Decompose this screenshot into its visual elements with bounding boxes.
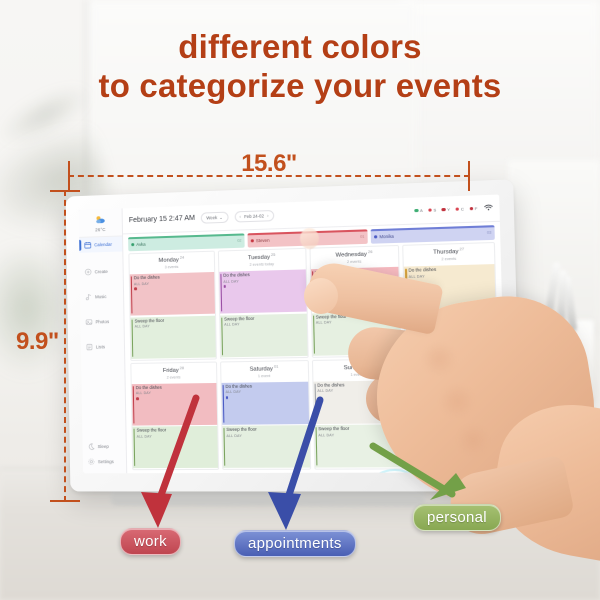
legend-item[interactable]: A [414,208,422,213]
weather-temperature: 26°C [95,227,106,232]
day-name: Tuesday [248,255,270,262]
sidebar-item-label: Lists [96,344,105,349]
legend-dot [442,208,446,212]
event-accent-bar [133,386,135,423]
chip-name: Steven [256,237,270,243]
day-event-count: 2 events [132,374,216,379]
event-title: Sweep the floor [226,427,306,433]
width-dimension-annotation: 15.6" [54,150,484,194]
category-pill-appointments[interactable]: appointments [234,530,356,557]
day-events: Do the dishes ALL DAY Sweep the floor AL… [221,380,309,469]
chip-count: 02 [237,239,241,243]
day-column-monday[interactable]: Monday24 3 events Do the dishes ALL DAY [128,251,216,361]
event-accent-bar [220,274,222,312]
sidebar-item-label: Settings [98,459,114,464]
width-dimension-cap-right [468,161,470,191]
fingernail [300,228,319,249]
day-event-count: 1 event [221,373,307,378]
legend-label: A [420,208,423,213]
sidebar-item-label: Calendar [94,242,112,248]
event-member-dot [136,397,139,400]
day-header: Friday28 2 events [131,362,216,383]
event-time: ALL DAY [226,433,306,438]
sidebar-item-label: Sleep [98,444,109,449]
headline-line-2: to categorize your events [0,67,600,106]
sidebar-item-label: Music [95,294,107,299]
legend-dot [414,209,418,213]
day-header: Monday24 3 events [129,252,213,274]
event-accent-bar [131,276,133,313]
day-column-friday[interactable]: Friday28 2 events Do the dishes ALL DAY [130,361,219,470]
sidebar-item-label: Photos [95,319,109,324]
knuckle-1 [420,344,458,374]
height-dimension-cap-bottom [50,500,80,502]
view-select[interactable]: Week ⌄ [201,212,228,223]
sun-cloud-icon [95,215,106,226]
category-pill-work[interactable]: work [120,528,181,555]
page-title: different colors to categorize your even… [0,28,600,106]
event-time: ALL DAY [224,321,304,327]
event-card[interactable]: Sweep the floor ALL DAY [132,426,217,468]
day-name: Friday [163,367,179,373]
event-card[interactable]: Do the dishes ALL DAY [219,270,306,314]
width-dimension-value: 15.6" [233,150,305,178]
event-accent-bar [221,317,223,355]
event-accent-bar [134,429,136,466]
event-member-dot [223,285,226,288]
chevron-right-icon[interactable]: › [267,213,269,218]
day-column-tuesday[interactable]: Tuesday25 2 events today Do the dishes A… [218,248,309,359]
legend-dot [428,208,432,212]
legend-item[interactable]: Y [442,207,450,213]
day-header: Tuesday25 2 events today [219,249,306,271]
category-pill-label: work [134,533,167,550]
headline-line-1: different colors [0,28,600,67]
knuckle-2 [438,386,476,416]
event-title: Do the dishes [136,385,214,391]
event-accent-bar [223,385,225,423]
category-pill-personal[interactable]: personal [413,504,501,531]
chip-name: Avka [136,241,145,246]
height-dimension-line [64,190,66,502]
category-pill-label: appointments [248,535,342,552]
day-events: Do the dishes ALL DAY Sweep the floor AL… [219,269,307,358]
height-dimension-value: 9.9" [16,328,59,356]
day-number: 25 [271,253,276,257]
day-column-saturday[interactable]: Saturday01 1 event Do the dishes ALL DAY [220,359,311,469]
legend-label: F [475,206,478,211]
event-accent-bar [223,428,225,466]
event-time: ALL DAY [223,278,303,284]
sidebar-item-label: Create [95,269,108,274]
day-number: 28 [180,366,184,370]
legend-label: C [461,206,464,211]
event-time: ALL DAY [226,389,306,394]
chevron-left-icon[interactable]: ‹ [239,214,241,219]
event-card[interactable]: Do the dishes ALL DAY [130,272,215,316]
view-select-value: Week [206,215,217,220]
event-title: Do the dishes [225,383,305,389]
wifi-icon[interactable] [484,204,493,213]
event-time: ALL DAY [135,323,213,329]
knuckle-3 [456,426,490,454]
category-pill-label: personal [427,509,487,526]
event-time: ALL DAY [134,280,212,286]
event-accent-bar [132,319,134,356]
chip-dot [251,239,254,242]
legend-item[interactable]: F [469,206,477,212]
event-card[interactable]: Do the dishes ALL DAY [132,383,217,426]
event-card[interactable]: Sweep the floor ALL DAY [131,315,216,358]
legend-item[interactable]: C [455,206,464,212]
day-number: 01 [274,364,279,368]
day-event-count: 3 events [130,264,214,270]
index-fingertip [304,278,338,314]
event-member-dot [134,288,137,291]
week-pager[interactable]: ‹ Feb 24-02 › [234,210,274,222]
chip-dot [131,243,134,246]
event-time: ALL DAY [137,434,215,439]
height-dimension-cap-top [50,190,80,192]
event-time: ALL DAY [136,391,214,396]
day-events: Do the dishes ALL DAY Sweep the floor AL… [130,271,216,359]
event-card[interactable]: Sweep the floor ALL DAY [222,425,309,468]
day-name: Monday [159,257,179,264]
legend-dot [455,207,459,211]
event-card[interactable]: Do the dishes ALL DAY [221,381,308,424]
day-events: Do the dishes ALL DAY Sweep the floor AL… [132,382,218,470]
legend-label: Y [447,207,450,212]
day-event-count: 2 events today [219,261,305,268]
day-title: Saturday01 [221,364,308,373]
day-title: Friday28 [131,365,216,374]
day-header: Saturday01 1 event [221,361,308,382]
current-date-title: February 15 2:47 AM [129,215,195,224]
day-name: Saturday [250,366,273,373]
legend-item[interactable]: S [428,207,436,212]
member-chip-avka[interactable]: Avka 02 [128,233,245,251]
event-title: Sweep the floor [137,428,215,434]
height-dimension-annotation: 9.9" [18,176,90,516]
chevron-down-icon: ⌄ [219,215,223,220]
event-card[interactable]: Sweep the floor ALL DAY [220,313,307,357]
pager-range: Feb 24-02 [244,213,264,219]
chip-accent-bar [128,233,244,239]
legend-dot [469,207,473,211]
day-number: 24 [180,256,184,260]
member-legend: A S Y C [414,204,493,215]
legend-label: S [433,207,436,212]
event-member-dot [226,396,229,399]
